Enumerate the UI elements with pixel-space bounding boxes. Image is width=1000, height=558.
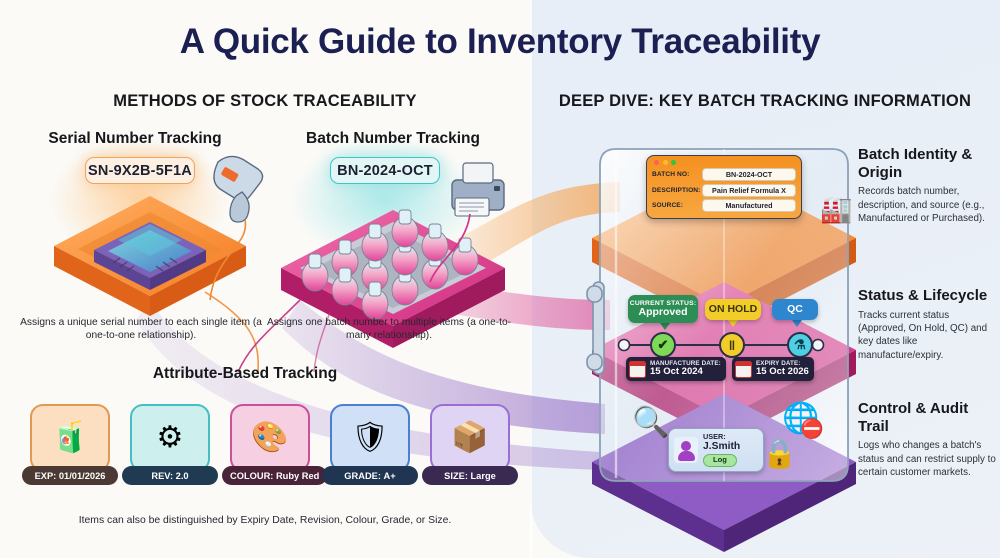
batch-field-row: BATCH NO:BN-2024-OCT (652, 168, 796, 181)
batch-number-chip[interactable]: BN-2024-OCT (330, 157, 440, 184)
attribute-key: EXP: (35, 471, 59, 481)
status-value: ON HOLD (709, 304, 757, 315)
pause-icon: ‖ (719, 332, 745, 358)
status-badge-qc[interactable]: QC (772, 299, 818, 320)
batch-field-key: SOURCE: (652, 202, 702, 209)
batch-field-value[interactable]: BN-2024-OCT (702, 168, 796, 181)
info-heading: Batch Identity & Origin (858, 146, 998, 181)
serial-tracking-heading: Serial Number Tracking (10, 130, 260, 148)
barcode-scanner-icon (210, 156, 263, 300)
page-title: A Quick Guide to Inventory Traceability (0, 22, 1000, 62)
flask-icon: ⚗ (787, 332, 813, 358)
attribute-value: A+ (384, 471, 396, 481)
status-badge-on-hold[interactable]: ON HOLD (705, 299, 761, 320)
date-value: 15 Oct 2024 (650, 367, 721, 377)
attribute-label: EXP: 01/01/2026 (22, 466, 118, 485)
attribute-card-gears-window[interactable]: ⚙ (130, 404, 210, 472)
section-heading-methods: METHODS OF STOCK TRACEABILITY (0, 92, 530, 111)
window-traffic-lights (654, 160, 796, 165)
user-audit-card[interactable]: USER: J.Smith Log (668, 428, 764, 472)
info-body: Tracks current status (Approved, On Hold… (858, 309, 998, 363)
attribute-label: SIZE: Large (422, 466, 518, 485)
attribute-value: 2.0 (176, 471, 189, 481)
batch-field-rows: BATCH NO:BN-2024-OCTDESCRIPTION:Pain Rel… (652, 168, 796, 212)
status-value: Approved (638, 307, 687, 318)
gears-window-icon: ⚙ (157, 423, 184, 453)
batch-field-value[interactable]: Manufactured (702, 199, 796, 212)
attribute-tracking-heading: Attribute-Based Tracking (60, 365, 430, 383)
calendar-icon (735, 361, 752, 378)
vial-group (302, 210, 478, 319)
batch-field-row: SOURCE:Manufactured (652, 199, 796, 212)
check-icon: ✔ (650, 332, 676, 358)
cardboard-box-icon: 📦 (451, 423, 488, 453)
magnifier-icon: 🔍 (632, 408, 669, 438)
serial-tracking-caption: Assigns a unique serial number to each s… (18, 316, 264, 343)
colour-swatch-fan-icon: 🎨 (251, 423, 288, 453)
attribute-card-row: 🧃EXP: 01/01/2026⚙REV: 2.0🎨COLOUR: Ruby R… (30, 404, 510, 490)
log-button[interactable]: Log (703, 454, 737, 466)
infographic-root: A Quick Guide to Inventory Traceability … (0, 0, 1000, 558)
info-heading: Status & Lifecycle (858, 287, 998, 305)
user-value: J.Smith (703, 441, 740, 452)
milk-carton-clock-icon: 🧃 (51, 423, 88, 453)
info-block-batch-identity: Batch Identity & Origin Records batch nu… (858, 146, 998, 225)
window-dot-1[interactable] (663, 160, 668, 165)
shield-check-icon: 🛡 (351, 423, 389, 453)
expiry-date-chip: EXPIRY DATE: 15 Oct 2026 (732, 357, 814, 381)
panel-divider (530, 0, 532, 558)
attribute-label: REV: 2.0 (122, 466, 218, 485)
batch-field-value[interactable]: Pain Relief Formula X (702, 184, 796, 197)
window-dot-2[interactable] (671, 160, 676, 165)
batch-identity-card[interactable]: BATCH NO:BN-2024-OCTDESCRIPTION:Pain Rel… (646, 155, 802, 219)
batch-field-row: DESCRIPTION:Pain Relief Formula X (652, 184, 796, 197)
batch-tracking-caption: Assigns one batch number to multiple ite… (264, 316, 514, 343)
user-key: USER: (703, 433, 740, 441)
no-entry-icon: ⛔ (800, 420, 824, 439)
attribute-tracking-footnote: Items can also be distinguished by Expir… (30, 514, 500, 528)
attribute-value: 01/01/2026 (59, 471, 106, 481)
status-value: QC (787, 304, 803, 315)
section-heading-deep-dive: DEEP DIVE: KEY BATCH TRACKING INFORMATIO… (530, 92, 1000, 111)
attribute-key: GRADE: (344, 471, 383, 481)
info-block-control-audit: Control & Audit Trail Logs who changes a… (858, 400, 998, 479)
factory-icon: 🏭 (820, 196, 852, 222)
date-value: 15 Oct 2026 (756, 367, 809, 377)
attribute-card-colour-swatch-fan[interactable]: 🎨 (230, 404, 310, 472)
attribute-key: SIZE: (444, 471, 470, 481)
info-body: Logs who changes a batch's status and ca… (858, 439, 998, 479)
attribute-label: GRADE: A+ (322, 466, 418, 485)
attribute-value: Ruby Red (276, 471, 319, 481)
attribute-label: COLOUR: Ruby Red (222, 466, 327, 485)
window-dot-0[interactable] (654, 160, 659, 165)
info-block-status-lifecycle: Status & Lifecycle Tracks current status… (858, 287, 998, 362)
label-printer-icon (430, 163, 504, 282)
calendar-icon (629, 361, 646, 378)
info-heading: Control & Audit Trail (858, 400, 998, 435)
manufacture-date-chip: MANUFACTURE DATE: 15 Oct 2024 (626, 357, 726, 381)
attribute-card-cardboard-box[interactable]: 📦 (430, 404, 510, 472)
info-body: Records batch number, description, and s… (858, 185, 998, 225)
padlock-icon: 🔒 (762, 440, 797, 468)
status-badge-approved[interactable]: CURRENT STATUS: Approved (628, 295, 698, 323)
batch-tracking-heading: Batch Number Tracking (268, 130, 518, 148)
serial-number-chip[interactable]: SN-9X2B-5F1A (85, 157, 195, 184)
avatar (674, 437, 698, 463)
batch-field-key: DESCRIPTION: (652, 187, 702, 194)
batch-field-key: BATCH NO: (652, 171, 702, 178)
attribute-key: COLOUR: (230, 471, 276, 481)
attribute-value: Large (471, 471, 496, 481)
attribute-card-milk-carton-clock[interactable]: 🧃 (30, 404, 110, 472)
attribute-card-shield-check[interactable]: 🛡 (330, 404, 410, 472)
attribute-key: REV: (151, 471, 175, 481)
